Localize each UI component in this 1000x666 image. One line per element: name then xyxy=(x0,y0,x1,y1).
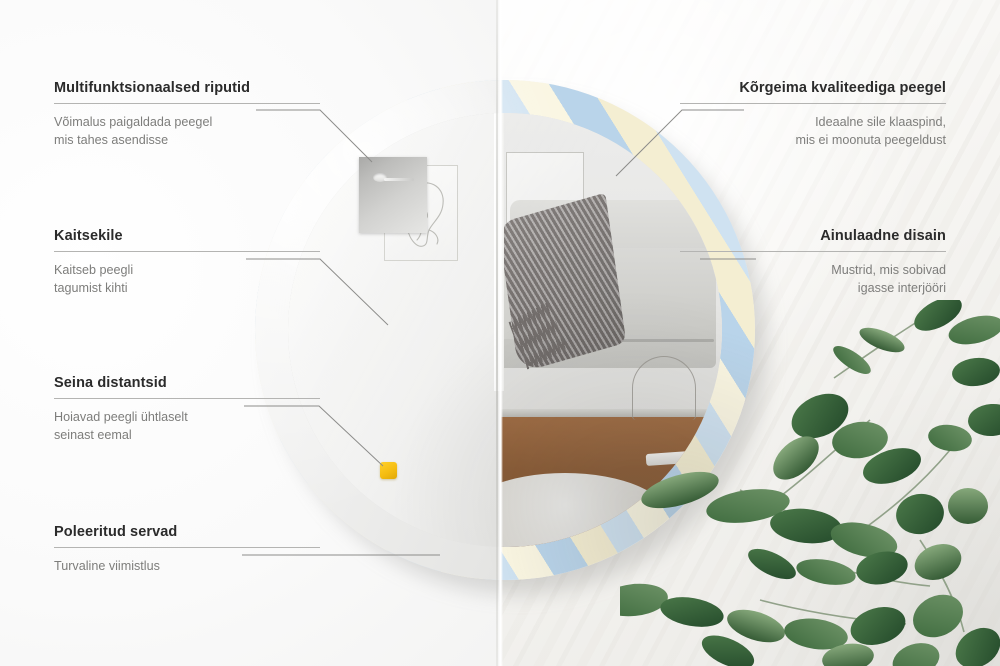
callout-description: Turvaline viimistlus xyxy=(54,557,320,575)
callout-description: Võimalus paigaldada peegel mis tahes ase… xyxy=(54,113,320,150)
callout-description: Mustrid, mis sobivad igasse interjööri xyxy=(680,261,946,298)
callout-rule xyxy=(54,251,320,252)
glass-reflection-half xyxy=(500,113,722,547)
callout-wall-spacers: Seina distantsid Hoiavad peegli ühtlasel… xyxy=(54,375,320,445)
callout-rule xyxy=(54,103,320,104)
callout-title: Multifunktsionaalsed riputid xyxy=(54,80,320,96)
mirror-glass xyxy=(288,113,722,547)
callout-title: Seina distantsid xyxy=(54,375,320,391)
callout-protective-film: Kaitsekile Kaitseb peegli tagumist kihti xyxy=(54,228,320,298)
callout-highest-quality-mirror: Kõrgeima kvaliteediga peegel Ideaalne si… xyxy=(680,80,946,150)
hanger-plate xyxy=(359,157,427,233)
callout-rule xyxy=(680,251,946,252)
callout-title: Kõrgeima kvaliteediga peegel xyxy=(680,80,946,96)
callout-title: Ainulaadne disain xyxy=(680,228,946,244)
hanger-slot xyxy=(373,173,413,182)
callout-title: Poleeritud servad xyxy=(54,524,320,540)
hanger-bar xyxy=(384,178,414,181)
callout-rule xyxy=(54,398,320,399)
callout-rule xyxy=(680,103,946,104)
callout-title: Kaitsekile xyxy=(54,228,320,244)
callout-unique-design: Ainulaadne disain Mustrid, mis sobivad i… xyxy=(680,228,946,298)
callout-description: Hoiavad peegli ühtlaselt seinast eemal xyxy=(54,408,320,445)
callout-polished-edges: Poleeritud servad Turvaline viimistlus xyxy=(54,524,320,575)
wall-spacer xyxy=(380,462,397,479)
panel-seam xyxy=(498,0,503,666)
callout-description: Kaitseb peegli tagumist kihti xyxy=(54,261,320,298)
callout-description: Ideaalne sile klaaspind, mis ei moonuta … xyxy=(680,113,946,150)
reflected-side-table-frame xyxy=(632,356,696,420)
callout-rule xyxy=(54,547,320,548)
round-mirror xyxy=(255,80,755,580)
reflected-knit-throw xyxy=(500,193,626,374)
callout-multifunctional-hangers: Multifunktsionaalsed riputid Võimalus pa… xyxy=(54,80,320,150)
infographic-canvas: Multifunktsionaalsed riputid Võimalus pa… xyxy=(0,0,1000,666)
